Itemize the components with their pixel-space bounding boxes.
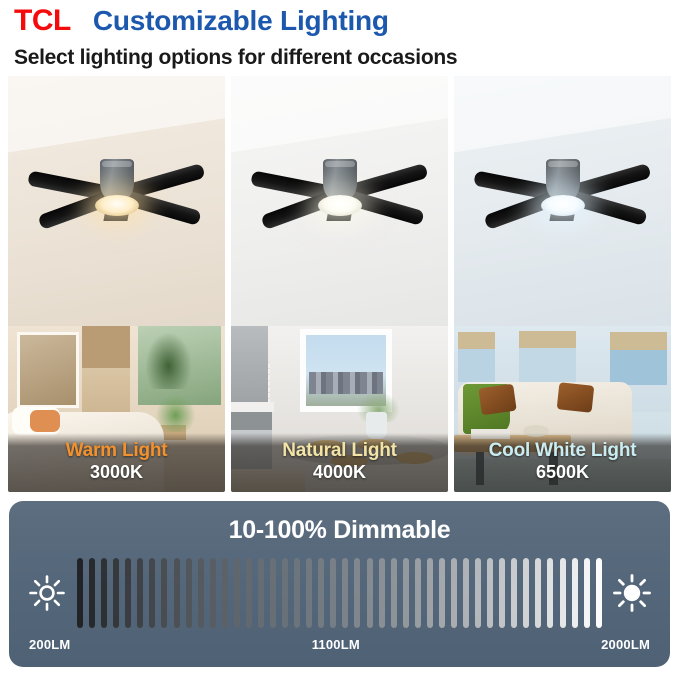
dimmer-bar[interactable] <box>294 558 300 628</box>
dimmer-bar[interactable] <box>560 558 566 628</box>
dimmer-bar[interactable] <box>222 558 228 628</box>
page-header: TCL Customizable Lighting Select lightin… <box>0 0 679 76</box>
lighting-option-warm-light[interactable]: Warm Light 3000K <box>8 76 225 492</box>
dimmer-bar[interactable] <box>379 558 385 628</box>
dimmer-bar[interactable] <box>572 558 578 628</box>
dimmer-bar[interactable] <box>463 558 469 628</box>
dimmer-bar[interactable] <box>234 558 240 628</box>
lighting-option-cool-white-light[interactable]: Cool White Light 6500K <box>454 76 671 492</box>
window <box>519 331 575 384</box>
tcl-brand-logo: TCL <box>14 4 71 38</box>
lighting-kelvin-value: 3000K <box>12 462 221 483</box>
dimmer-bar[interactable] <box>77 558 83 628</box>
dimmer-bar[interactable] <box>174 558 180 628</box>
panel-caption: Natural Light 4000K <box>231 433 448 492</box>
ceiling-fan <box>463 140 663 250</box>
accent-pillow <box>30 410 60 432</box>
fan-motor-housing <box>323 159 357 199</box>
ceiling-scene-natural <box>231 76 448 334</box>
ceiling-fan <box>240 140 440 250</box>
city-skyline <box>309 372 383 394</box>
dimmer-bar[interactable] <box>161 558 167 628</box>
dimmer-bar[interactable] <box>487 558 493 628</box>
dimmer-bar[interactable] <box>475 558 481 628</box>
dimmer-gradient-bars[interactable] <box>77 558 602 628</box>
leather-cushion <box>478 383 516 414</box>
lighting-option-natural-light[interactable]: Natural Light 4000K <box>231 76 448 492</box>
title-row: TCL Customizable Lighting <box>14 4 679 40</box>
lumen-min-label: 200LM <box>29 637 70 652</box>
dimmer-bar[interactable] <box>523 558 529 628</box>
dimmer-title: 10-100% Dimmable <box>27 515 652 545</box>
fan-motor-housing <box>546 159 580 199</box>
lumen-scale: 200LM 1100LM 2000LM <box>27 637 652 652</box>
dimmer-bar[interactable] <box>306 558 312 628</box>
dimmer-bar[interactable] <box>415 558 421 628</box>
dimmer-bar[interactable] <box>354 558 360 628</box>
dimmer-bar[interactable] <box>210 558 216 628</box>
ceiling-scene-warm <box>8 76 225 334</box>
dimmer-bar[interactable] <box>149 558 155 628</box>
lighting-kelvin-value: 6500K <box>458 462 667 483</box>
brightness-slider[interactable] <box>27 557 652 629</box>
dimmer-bar[interactable] <box>391 558 397 628</box>
dimmer-bar[interactable] <box>596 558 602 628</box>
dimmer-bar[interactable] <box>270 558 276 628</box>
dimmer-bar[interactable] <box>125 558 131 628</box>
dimmer-bar[interactable] <box>318 558 324 628</box>
lighting-mode-name: Warm Light <box>12 440 221 462</box>
wall-art <box>17 332 79 408</box>
panel-caption: Cool White Light 6500K <box>454 433 671 492</box>
dimmer-bar[interactable] <box>535 558 541 628</box>
dimmer-bar[interactable] <box>427 558 433 628</box>
dimmer-bar[interactable] <box>367 558 373 628</box>
window <box>610 332 666 385</box>
palm-tree <box>145 332 193 389</box>
sun-filled-icon <box>612 573 652 613</box>
leather-cushion <box>557 382 594 412</box>
fan-led-light <box>318 195 362 216</box>
dimmer-bar[interactable] <box>246 558 252 628</box>
lighting-options-row: Warm Light 3000K <box>0 76 679 492</box>
dimmer-bar[interactable] <box>89 558 95 628</box>
dimmer-bar[interactable] <box>258 558 264 628</box>
dimmer-bar[interactable] <box>439 558 445 628</box>
countertop <box>231 402 274 412</box>
dimmer-bar[interactable] <box>342 558 348 628</box>
lighting-kelvin-value: 4000K <box>235 462 444 483</box>
lighting-mode-name: Natural Light <box>235 440 444 462</box>
dimmer-panel: 10-100% Dimmable <box>9 501 670 667</box>
dimmer-bar[interactable] <box>137 558 143 628</box>
ceiling-fan <box>17 140 217 250</box>
lumen-mid-label: 1100LM <box>312 637 360 652</box>
panel-caption: Warm Light 3000K <box>8 433 225 492</box>
page-subtitle: Select lighting options for different oc… <box>14 46 679 70</box>
window <box>458 332 495 382</box>
dimmer-bar[interactable] <box>282 558 288 628</box>
dimmer-bar[interactable] <box>547 558 553 628</box>
dimmer-bar[interactable] <box>584 558 590 628</box>
fan-motor-housing <box>100 159 134 199</box>
sun-outline-icon <box>27 573 67 613</box>
dimmer-bar[interactable] <box>511 558 517 628</box>
dimmer-bar[interactable] <box>330 558 336 628</box>
dimmer-bar[interactable] <box>499 558 505 628</box>
lighting-mode-name: Cool White Light <box>458 440 667 462</box>
dimmer-section: 10-100% Dimmable <box>0 492 679 673</box>
dimmer-bar[interactable] <box>403 558 409 628</box>
fan-led-light <box>95 195 139 216</box>
dimmer-bar[interactable] <box>198 558 204 628</box>
dimmer-bar[interactable] <box>186 558 192 628</box>
fan-led-light <box>541 195 585 216</box>
lumen-max-label: 2000LM <box>601 637 650 652</box>
dimmer-bar[interactable] <box>101 558 107 628</box>
ceiling-scene-cool <box>454 76 671 334</box>
bookshelf <box>82 326 130 418</box>
dimmer-bar[interactable] <box>113 558 119 628</box>
dimmer-bar[interactable] <box>451 558 457 628</box>
upper-cabinet <box>231 326 268 403</box>
page-title: Customizable Lighting <box>93 4 389 38</box>
